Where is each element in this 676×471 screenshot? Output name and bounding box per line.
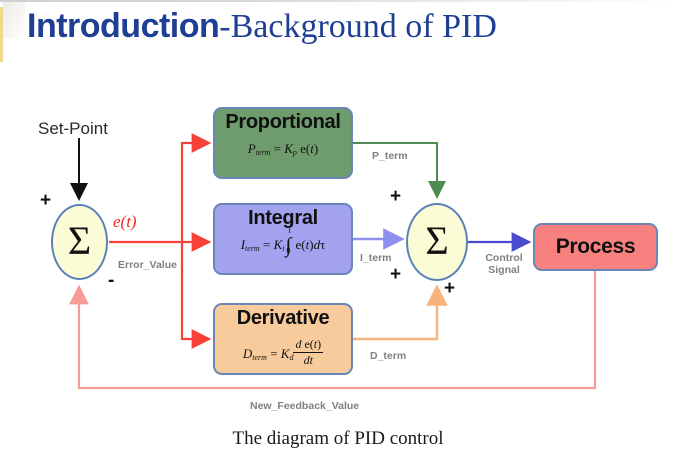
wire-error-bus [182,143,207,242]
label-error-value: Error_Value [118,259,177,271]
label-d-term: D_term [370,350,406,362]
gold-accent-bar [0,7,3,62]
sign-minus-feedback: - [108,271,114,290]
sign-plus-setpoint: + [40,191,51,210]
block-proportional[interactable]: Proportional Pterm = Kp e(t) [213,107,353,179]
block-derivative-title: Derivative [237,307,330,330]
wire-d-term [353,289,437,339]
sign-plus-d: + [444,279,455,298]
label-control-signal-line1: Control [485,252,522,264]
corner-shade [3,2,25,38]
sign-plus-p: + [390,187,401,206]
title-serif-part: -Background of PID [219,8,497,45]
summing-junction-error: Σ [51,204,108,280]
title-bold-part: Introduction [27,7,219,45]
block-process[interactable]: Process [533,223,658,271]
block-process-title: Process [556,235,636,259]
label-p-term: P_term [372,150,408,162]
label-error-symbol: e(t) [113,212,137,232]
block-proportional-formula: Pterm = Kp e(t) [248,141,318,157]
label-control-signal: Control Signal [478,252,530,276]
pid-block-diagram: Σ + - Σ + + + Proportional Pterm = Kp e(… [0,75,676,435]
block-integral-formula: Iterm = Kit∫0 e(t)dτ [241,237,326,253]
block-proportional-title: Proportional [225,111,340,134]
figure-caption: The diagram of PID control [0,428,676,450]
label-new-feedback-value: New_Feedback_Value [250,400,359,412]
label-i-term: I_term [360,252,392,264]
wire-error-bus-down [182,242,207,339]
top-rule [0,0,676,2]
block-derivative[interactable]: Derivative Dterm = Kdd e(t)dt [213,303,353,375]
block-integral[interactable]: Integral Iterm = Kit∫0 e(t)dτ [213,203,353,275]
summing-junction-output: Σ [406,203,468,281]
sign-plus-i: + [390,265,401,284]
block-integral-title: Integral [248,207,318,230]
slide: Introduction-Background of PID [0,0,676,471]
label-control-signal-line2: Signal [488,264,520,276]
label-set-point: Set-Point [38,119,108,139]
block-derivative-formula: Dterm = Kdd e(t)dt [243,337,323,368]
page-title: Introduction-Background of PID [27,9,497,44]
